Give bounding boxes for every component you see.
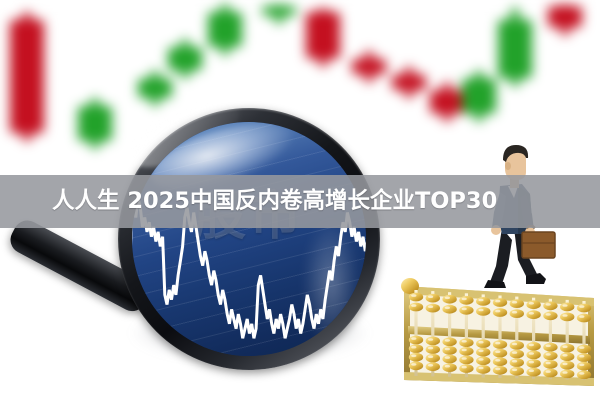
candle-body	[10, 20, 44, 134]
abacus-bead	[426, 362, 440, 371]
candle-body	[306, 12, 340, 59]
abacus-bead	[476, 365, 490, 374]
abacus-bead	[526, 368, 540, 377]
title-banner: 人人生 2025中国反内卷高增长企业TOP30	[0, 175, 600, 228]
abacus-bead	[526, 342, 540, 351]
candle-body	[498, 20, 532, 79]
candle-body	[548, 6, 582, 28]
abacus-bead	[409, 344, 423, 353]
abacus-bead	[493, 366, 507, 375]
abacus-bead	[493, 308, 507, 317]
abacus-bead	[442, 305, 456, 314]
magnifier-lens: 股市	[132, 122, 366, 356]
abacus-bead	[409, 303, 423, 312]
abacus-bead	[426, 345, 440, 354]
abacus-bead	[560, 313, 574, 322]
abacus-bead	[510, 299, 524, 308]
candle-body	[430, 90, 464, 114]
abacus-bead	[510, 367, 524, 376]
abacus-bead	[459, 306, 473, 315]
abacus-bead	[526, 351, 540, 360]
abacus-bead	[476, 339, 490, 348]
abacus-bead	[543, 360, 557, 369]
abacus-bead	[577, 362, 591, 371]
abacus-bead	[476, 348, 490, 357]
abacus-bead	[560, 303, 574, 312]
abacus-bead	[510, 350, 524, 359]
abacus-bead	[493, 357, 507, 366]
abacus-bead	[577, 304, 591, 313]
abacus-bead	[560, 361, 574, 370]
abacus-bead	[543, 369, 557, 378]
candle-body	[168, 47, 202, 71]
magnifying-glass: 股市	[118, 108, 380, 370]
abacus-bead	[442, 346, 456, 355]
candle-body	[262, 6, 296, 16]
abacus-bead	[526, 300, 540, 309]
abacus-bead	[560, 344, 574, 353]
abacus-bead	[560, 352, 574, 361]
abacus-bead	[510, 358, 524, 367]
abacus-bead	[442, 295, 456, 304]
abacus-bead	[459, 296, 473, 305]
abacus-bead	[577, 370, 591, 379]
abacus-bead	[543, 343, 557, 352]
abacus-bead	[493, 349, 507, 358]
candle-body	[78, 106, 112, 141]
briefcase	[522, 232, 555, 258]
abacus-bead	[577, 314, 591, 323]
abacus-bead	[426, 337, 440, 346]
abacus-bead	[426, 304, 440, 313]
abacus-bead	[577, 345, 591, 354]
abacus-bead	[476, 307, 490, 316]
abacus-bead	[526, 359, 540, 368]
abacus-bead	[426, 294, 440, 303]
abacus-bead	[476, 356, 490, 365]
abacus-bead	[459, 347, 473, 356]
abacus-bead	[560, 370, 574, 379]
abacus-bead	[442, 363, 456, 372]
stock-market-banner-image: 股市	[0, 0, 600, 400]
candle-body	[208, 12, 242, 47]
abacus-bead	[526, 310, 540, 319]
abacus-bead	[442, 355, 456, 364]
abacus-bead	[409, 361, 423, 370]
abacus-bead	[459, 356, 473, 365]
page-title: 人人生 2025中国反内卷高增长企业TOP30	[0, 175, 497, 228]
abacus-bead	[426, 354, 440, 363]
abacus-bead	[510, 309, 524, 318]
candle-body	[352, 59, 386, 75]
abacus-figure	[398, 268, 600, 400]
abacus-bead	[409, 353, 423, 362]
abacus-bead	[543, 351, 557, 360]
abacus-bead	[459, 364, 473, 373]
lens-glare-secondary	[302, 218, 360, 348]
abacus-bead	[510, 341, 524, 350]
abacus-bead	[493, 298, 507, 307]
abacus-bead	[459, 338, 473, 347]
abacus-bead	[442, 337, 456, 346]
abacus-bead	[543, 311, 557, 320]
abacus-bead	[543, 301, 557, 310]
abacus-bead	[577, 353, 591, 362]
ear	[505, 162, 511, 170]
abacus-bead	[493, 340, 507, 349]
abacus-svg	[398, 268, 600, 400]
candle-body	[462, 78, 496, 113]
abacus-bead	[409, 336, 423, 345]
candle-body	[138, 78, 172, 98]
abacus-bead	[476, 297, 490, 306]
candle-body	[392, 75, 426, 91]
abacus-bead	[409, 293, 423, 302]
